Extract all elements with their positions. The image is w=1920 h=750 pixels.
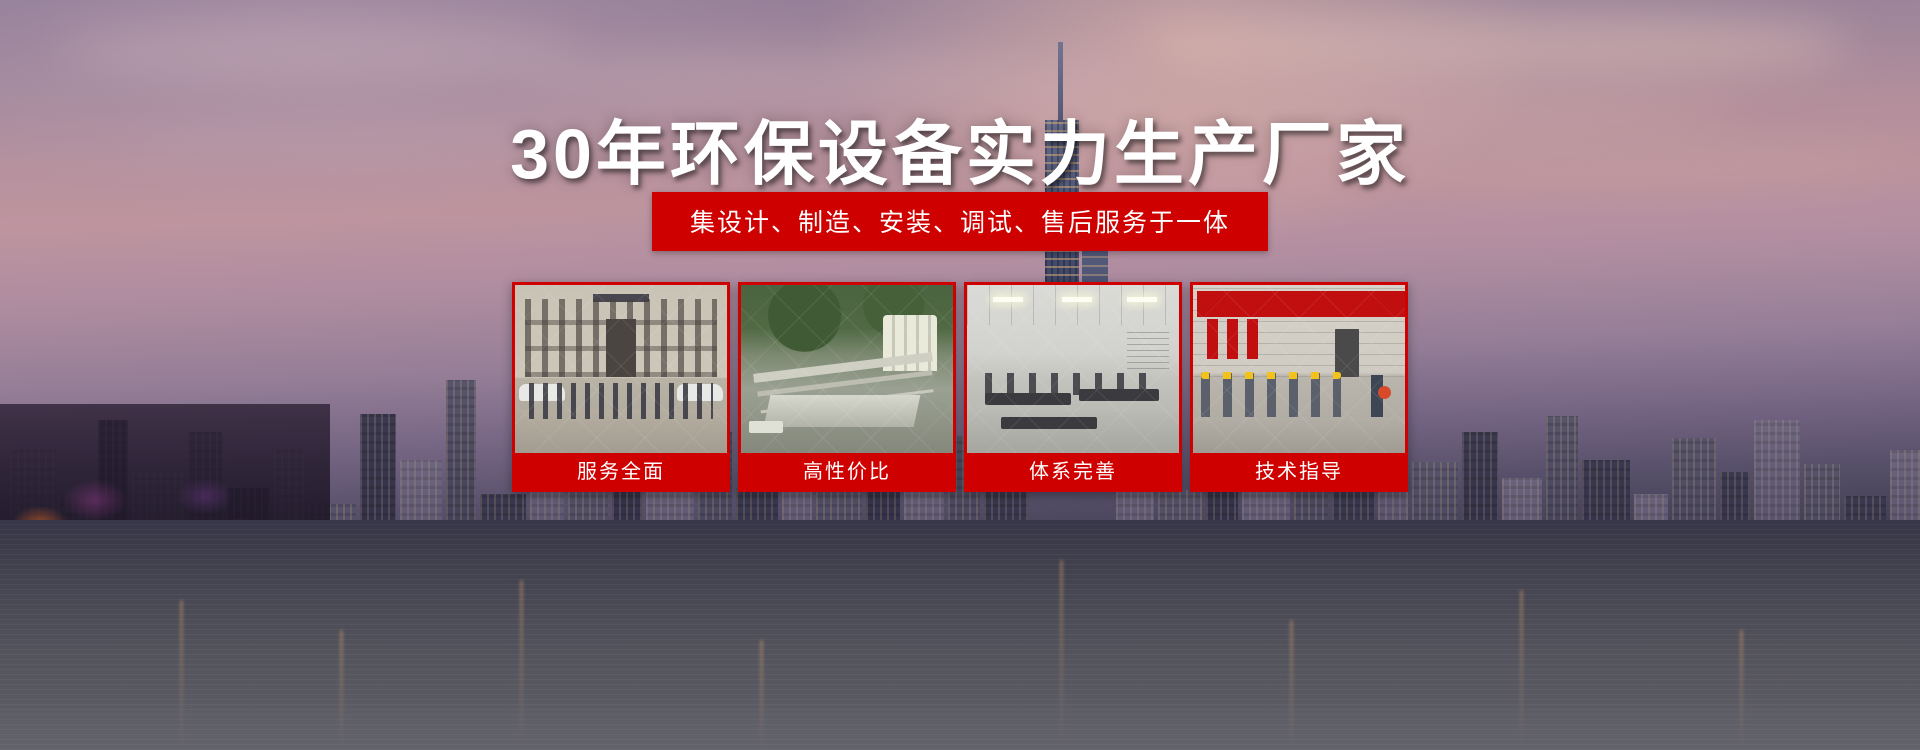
feature-card[interactable]: 高性价比	[738, 282, 956, 492]
page-title: 30年环保设备实力生产厂家	[0, 98, 1920, 199]
subtitle-container: 集设计、制造、安装、调试、售后服务于一体	[0, 192, 1920, 251]
card-caption: 服务全面	[515, 453, 727, 492]
hero-banner: 30年环保设备实力生产厂家 集设计、制造、安装、调试、售后服务于一体 服务全面	[0, 0, 1920, 750]
card-caption: 体系完善	[967, 453, 1179, 492]
card-caption: 高性价比	[741, 453, 953, 492]
subtitle-badge: 集设计、制造、安装、调试、售后服务于一体	[652, 192, 1268, 251]
card-thumbnail-image	[515, 285, 727, 453]
banner-content: 30年环保设备实力生产厂家 集设计、制造、安装、调试、售后服务于一体 服务全面	[0, 0, 1920, 750]
feature-card[interactable]: 服务全面	[512, 282, 730, 492]
card-thumbnail-image: 产品发布	[1193, 285, 1405, 453]
card-thumbnail-image	[741, 285, 953, 453]
card-thumbnail-image	[967, 285, 1179, 453]
feature-card-list: 服务全面 高性价比	[0, 282, 1920, 492]
feature-card[interactable]: 体系完善	[964, 282, 1182, 492]
card-caption: 技术指导	[1193, 453, 1405, 492]
feature-card[interactable]: 产品发布 技术指导	[1190, 282, 1408, 492]
